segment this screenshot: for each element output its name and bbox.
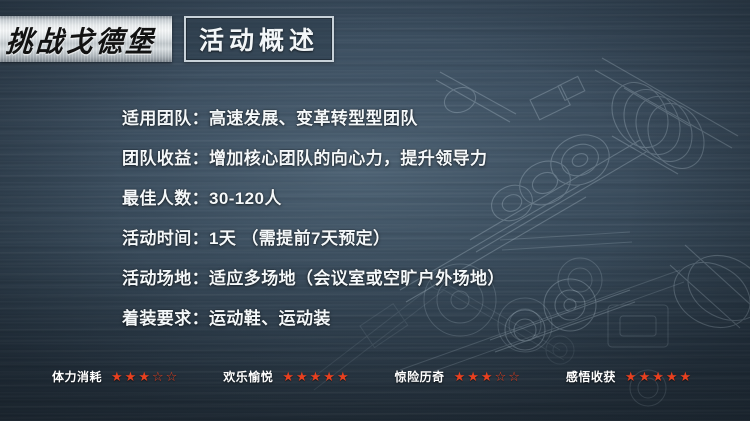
star-filled-icon: ★ [454, 370, 466, 383]
ratings-row: 体力消耗★★★☆☆欢乐愉悦★★★★★惊险历奇★★★☆☆感悟收获★★★★★ [52, 368, 712, 385]
brand-plate: 挑战戈德堡 [0, 16, 172, 62]
info-row: 团队收益：增加核心团队的向心力，提升领导力 [122, 136, 505, 176]
star-empty-icon: ☆ [152, 370, 164, 383]
rating-stars: ★★★☆☆ [454, 370, 522, 383]
star-filled-icon: ★ [138, 370, 150, 383]
info-row: 活动场地：适应多场地（会议室或空旷户外场地） [122, 256, 505, 296]
slide-canvas: 挑战戈德堡 活动概述 适用团队：高速发展、变革转型型团队 团队收益：增加核心团队… [0, 0, 750, 421]
info-row: 着装要求：运动鞋、运动装 [122, 296, 505, 336]
rating-item: 惊险历奇★★★☆☆ [395, 368, 522, 385]
star-filled-icon: ★ [467, 370, 479, 383]
brand-title: 挑战戈德堡 [0, 18, 157, 59]
activity-info-list: 适用团队：高速发展、变革转型型团队 团队收益：增加核心团队的向心力，提升领导力 … [122, 96, 505, 336]
rating-label: 欢乐愉悦 [223, 368, 273, 385]
star-filled-icon: ★ [652, 370, 664, 383]
star-filled-icon: ★ [111, 370, 123, 383]
rating-item: 感悟收获★★★★★ [566, 368, 693, 385]
rating-item: 体力消耗★★★☆☆ [52, 368, 179, 385]
star-filled-icon: ★ [125, 370, 137, 383]
star-filled-icon: ★ [680, 370, 692, 383]
rating-label: 体力消耗 [52, 368, 102, 385]
rating-stars: ★★★★★ [282, 370, 350, 383]
rating-stars: ★★★★★ [625, 370, 693, 383]
star-filled-icon: ★ [282, 370, 294, 383]
section-title: 活动概述 [199, 21, 319, 57]
star-filled-icon: ★ [337, 370, 349, 383]
rating-item: 欢乐愉悦★★★★★ [223, 368, 350, 385]
star-filled-icon: ★ [639, 370, 651, 383]
section-title-box: 活动概述 [184, 16, 334, 62]
rating-label: 感悟收获 [566, 368, 616, 385]
info-row: 活动时间：1天 （需提前7天预定） [122, 216, 505, 256]
star-empty-icon: ☆ [166, 370, 178, 383]
star-filled-icon: ★ [666, 370, 678, 383]
rating-label: 惊险历奇 [395, 368, 445, 385]
star-filled-icon: ★ [625, 370, 637, 383]
star-filled-icon: ★ [481, 370, 493, 383]
star-empty-icon: ☆ [495, 370, 507, 383]
info-row: 适用团队：高速发展、变革转型型团队 [122, 96, 505, 136]
rating-stars: ★★★☆☆ [111, 370, 179, 383]
slide-header: 挑战戈德堡 活动概述 [0, 16, 334, 62]
star-filled-icon: ★ [296, 370, 308, 383]
star-filled-icon: ★ [323, 370, 335, 383]
star-empty-icon: ☆ [508, 370, 520, 383]
info-row: 最佳人数：30-120人 [122, 176, 505, 216]
star-filled-icon: ★ [310, 370, 322, 383]
